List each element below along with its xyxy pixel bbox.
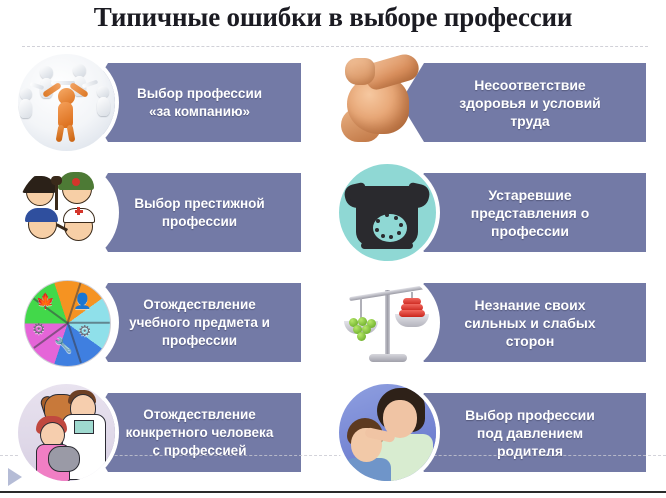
people-circle-icon [18, 54, 115, 151]
item-label: Устаревшие представления о профессии [471, 186, 590, 240]
item-banner: Выбор престижной профессии [84, 173, 301, 252]
list-item[interactable]: Несоответствие здоровья и условий труда [333, 52, 666, 162]
item-banner: Устаревшие представления о профессии [400, 173, 646, 252]
list-item[interactable]: Незнание своих сильных и слабых сторон [333, 272, 666, 382]
veterinarian-icon [18, 384, 115, 481]
gears-icon: ⚙ [78, 324, 91, 339]
item-label: Выбор престижной профессии [134, 195, 264, 231]
list-item[interactable]: Отождествление конкретного человека с пр… [0, 382, 333, 492]
item-label: Выбор профессии «за компанию» [137, 85, 262, 121]
maple-leaf-icon: 🍁 [36, 294, 55, 309]
list-item[interactable]: Выбор профессии «за компанию» [0, 52, 333, 162]
parent-child-photo-icon [339, 384, 436, 481]
list-item[interactable]: Выбор профессии под давлением родителя [333, 382, 666, 492]
slide: Типичные ошибки в выборе профессии Выбор… [0, 0, 666, 498]
bottom-border [0, 491, 666, 493]
item-label: Отождествление конкретного человека с пр… [126, 406, 274, 460]
item-banner: Выбор профессии «за компанию» [84, 63, 301, 142]
person-icon: 👤 [73, 294, 92, 309]
item-label: Несоответствие здоровья и условий труда [459, 76, 601, 130]
item-banner: Выбор профессии под давлением родителя [400, 393, 646, 472]
right-column: Несоответствие здоровья и условий труда … [333, 52, 666, 492]
flexed-bicep-icon [339, 54, 436, 151]
title-divider [22, 46, 648, 48]
item-label: Незнание своих сильных и слабых сторон [464, 296, 595, 350]
balance-scales-icon [339, 274, 436, 371]
list-item[interactable]: Выбор престижной профессии [0, 162, 333, 272]
cogwheel-icon: ⚙ [32, 322, 45, 337]
item-label: Отождествление учебного предмета и профе… [129, 296, 270, 350]
item-banner: Отождествление конкретного человека с пр… [84, 393, 301, 472]
rotary-phone-icon [339, 164, 436, 261]
item-banner: Незнание своих сильных и слабых сторон [400, 283, 646, 362]
item-banner: Несоответствие здоровья и условий труда [400, 63, 646, 142]
item-label: Выбор профессии под давлением родителя [465, 406, 595, 460]
page-title: Типичные ошибки в выборе профессии [0, 2, 666, 33]
list-item[interactable]: Устаревшие представления о профессии [333, 162, 666, 272]
cartoon-professions-icon [18, 164, 115, 261]
colour-wheel-icon: 👤 ⚙ 🔧 ⚙ 🍁 [18, 274, 115, 371]
list-item[interactable]: Отождествление учебного предмета и профе… [0, 272, 333, 382]
left-column: Выбор профессии «за компанию» [0, 52, 333, 492]
wrench-icon: 🔧 [54, 338, 73, 353]
item-banner: Отождествление учебного предмета и профе… [84, 283, 301, 362]
